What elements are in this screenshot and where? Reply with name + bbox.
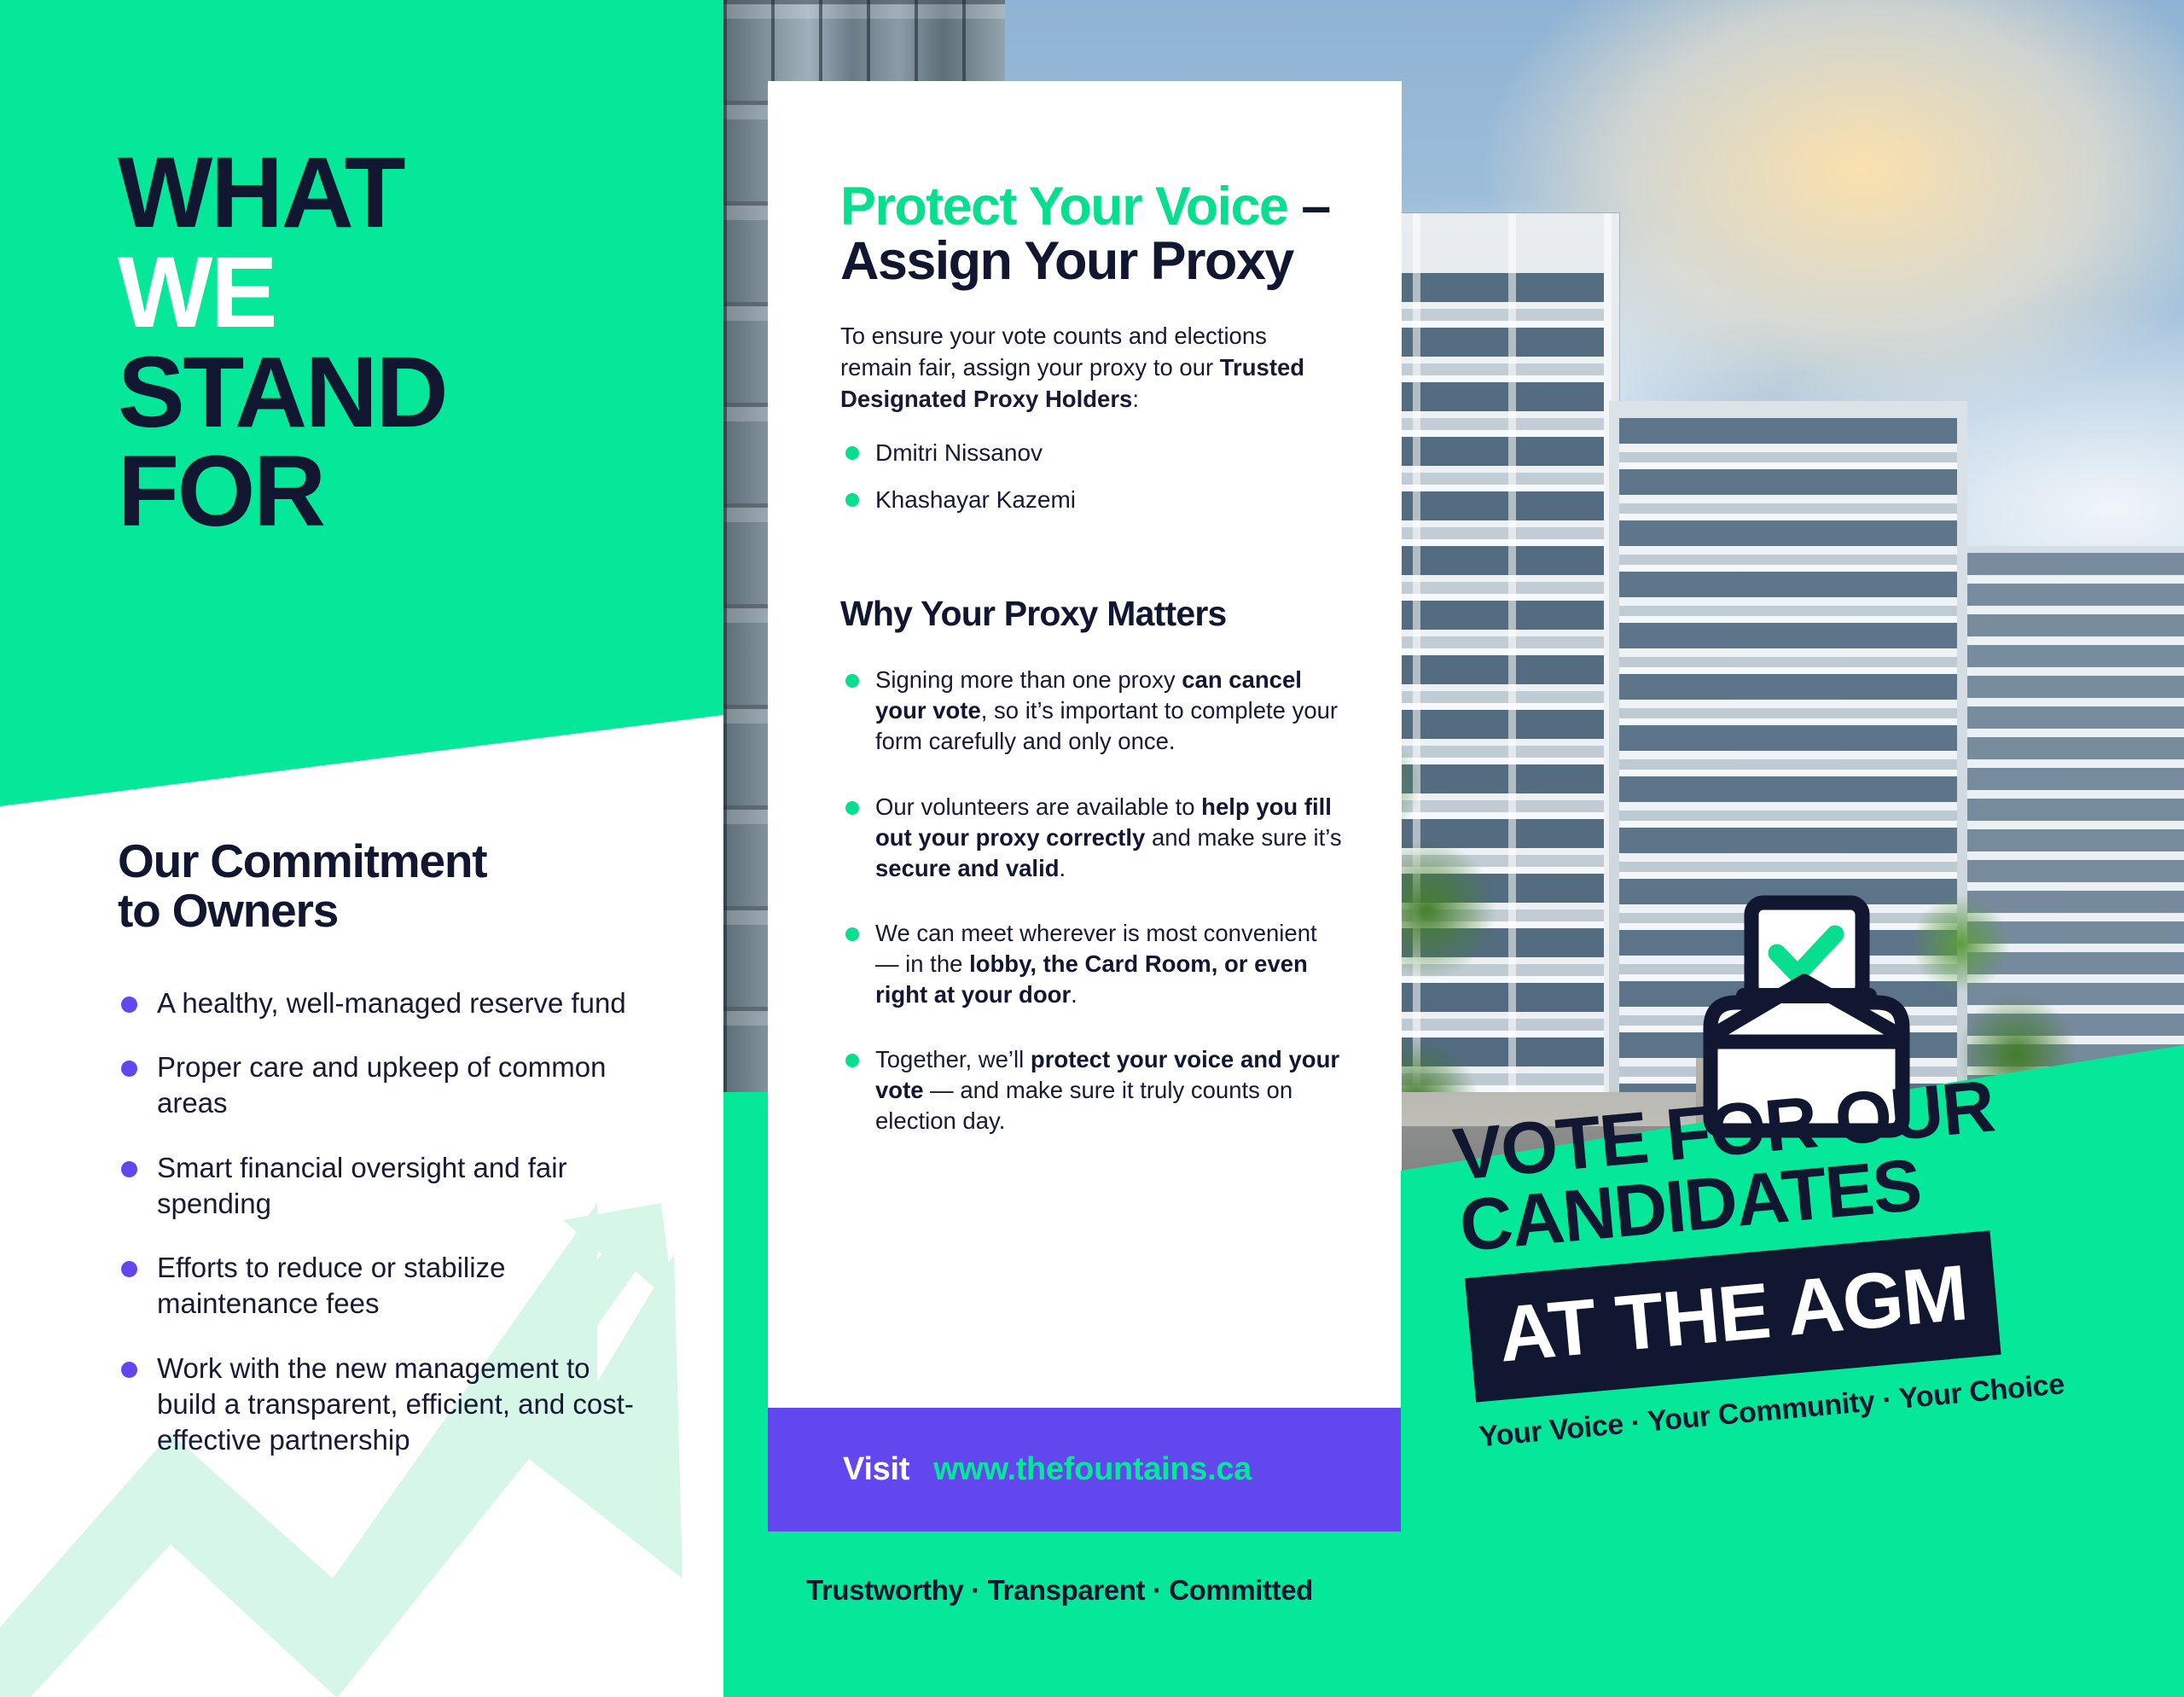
list-item: Smart financial oversight and fair spend…: [118, 1150, 647, 1222]
headline-line-3: STAND: [118, 343, 664, 443]
list-item: Dmitri Nissanov: [840, 438, 1342, 468]
card-title: Protect Your Voice – Assign Your Proxy: [840, 179, 1342, 289]
visit-label: Visit: [843, 1451, 909, 1488]
card-intro-part2: :: [1132, 386, 1139, 412]
cta-block: VOTE FOR OUR CANDIDATES AT THE AGM Your …: [1450, 1053, 2184, 1595]
headline-line-2: WE: [118, 243, 664, 343]
reason-text: Signing more than one proxy: [875, 666, 1182, 693]
values-tagline: Trustworthy · Transparent · Committed: [806, 1574, 1403, 1607]
proxy-card: Protect Your Voice – Assign Your Proxy T…: [768, 81, 1402, 1531]
list-item: Our volunteers are available to help you…: [840, 792, 1342, 884]
reason-text: — and make sure it truly counts on elect…: [875, 1077, 1292, 1134]
reason-text: and make sure it’s: [1145, 824, 1341, 851]
visit-website-bar[interactable]: Visit www.thefountains.ca: [768, 1408, 1402, 1531]
cta-agm-badge: AT THE AGM: [1465, 1230, 2001, 1402]
headline-line-1: WHAT: [118, 143, 664, 243]
reason-text: Our volunteers are available to: [875, 793, 1201, 820]
why-proxy-heading: Why Your Proxy Matters: [840, 594, 1342, 634]
commitment-heading-line-2: to Owners: [118, 884, 338, 937]
list-item: We can meet wherever is most convenient …: [840, 918, 1342, 1010]
website-link[interactable]: www.thefountains.ca: [933, 1451, 1252, 1488]
page-title: WHAT WE STAND FOR: [118, 143, 664, 542]
list-item: Khashayar Kazemi: [840, 485, 1342, 515]
list-item: Together, we’ll protect your voice and y…: [840, 1044, 1342, 1136]
why-proxy-list: Signing more than one proxy can cancel y…: [840, 665, 1342, 1136]
card-intro-part1: To ensure your vote counts and elections…: [840, 323, 1267, 381]
list-item: Signing more than one proxy can cancel y…: [840, 665, 1342, 757]
flyer-canvas: WHAT WE STAND FOR Our Commitment to Owne…: [0, 0, 2184, 1697]
card-intro: To ensure your vote counts and elections…: [840, 320, 1342, 416]
commitment-heading: Our Commitment to Owners: [118, 836, 647, 936]
reason-text: .: [1060, 855, 1066, 881]
card-title-green: Protect Your Voice: [840, 177, 1287, 236]
headline-line-4: FOR: [118, 442, 664, 542]
reason-text: Together, we’ll: [875, 1046, 1031, 1072]
reason-text: .: [1071, 981, 1077, 1008]
list-item: A healthy, well-managed reserve fund: [118, 985, 647, 1021]
list-item: Work with the new management to build a …: [118, 1351, 647, 1459]
list-item: Proper care and upkeep of common areas: [118, 1049, 647, 1121]
proxy-holder-list: Dmitri Nissanov Khashayar Kazemi: [840, 438, 1342, 516]
commitment-list: A healthy, well-managed reserve fund Pro…: [118, 985, 647, 1486]
reason-emphasis: secure and valid: [875, 855, 1060, 881]
commitment-heading-line-1: Our Commitment: [118, 834, 486, 887]
list-item: Efforts to reduce or stabilize maintenan…: [118, 1250, 647, 1322]
